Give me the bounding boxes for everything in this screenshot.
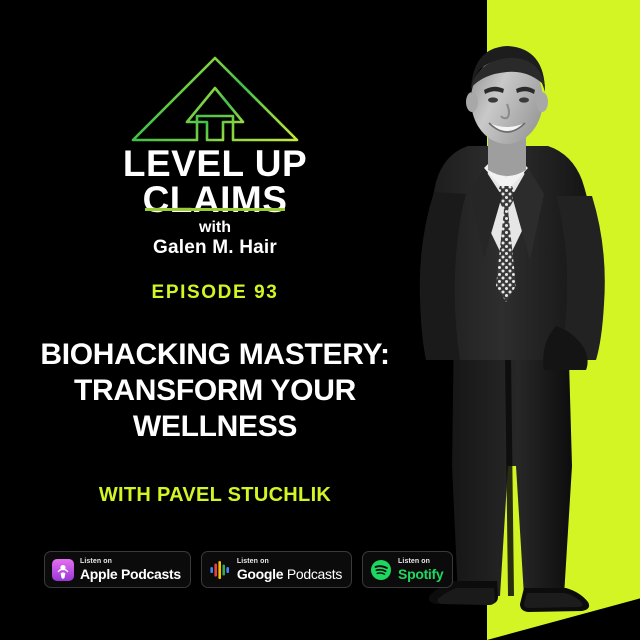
host-credit: with Galen M. Hair [0, 218, 430, 258]
google-podcasts-text: Google Podcasts [237, 567, 342, 581]
apple-podcasts-icon [52, 559, 74, 581]
podcast-cover-art: LEVEL UP CLAIMS with Galen M. Hair EPISO… [0, 0, 640, 640]
google-podcasts-label: Listen on Google Podcasts [237, 558, 342, 581]
spotify-icon [370, 559, 392, 581]
spotify-badge[interactable]: Listen on Spotify [362, 551, 453, 588]
with-label: with [199, 219, 231, 236]
episode-title-line3: WELLNESS [133, 410, 297, 443]
spotify-listen-on-text: Listen on [398, 558, 443, 565]
spotify-text: Spotify [398, 567, 443, 581]
episode-number: EPISODE 93 [0, 282, 430, 304]
google-podcasts-badge[interactable]: Listen on Google Podcasts [201, 551, 352, 588]
apple-listen-on-text: Listen on [80, 558, 181, 565]
apple-podcasts-text: Apple Podcasts [80, 567, 181, 581]
apple-podcasts-label: Listen on Apple Podcasts [80, 558, 181, 581]
episode-title-line1: BIOHACKING MASTERY: [40, 338, 389, 371]
episode-title: BIOHACKING MASTERY: TRANSFORM YOUR WELLN… [22, 337, 408, 445]
spotify-label: Listen on Spotify [398, 558, 443, 581]
host-name: Galen M. Hair [0, 238, 430, 258]
host-portrait-photo [396, 0, 640, 640]
google-listen-on-text: Listen on [237, 558, 342, 565]
podcasts-word: Podcasts [283, 566, 342, 582]
episode-title-line2: TRANSFORM YOUR [74, 374, 356, 407]
listen-badges: Listen on Apple Podcasts Listen on Googl… [44, 551, 453, 588]
google-word: Google [237, 566, 283, 582]
brand-name-line2: CLAIMS [0, 182, 430, 218]
guest-credit: WITH PAVEL STUCHLIK [0, 484, 430, 507]
cover-text-column: LEVEL UP CLAIMS with Galen M. Hair EPISO… [0, 0, 430, 640]
brand-name-line1: LEVEL UP [123, 143, 307, 184]
brand-divider [145, 208, 285, 211]
upward-arrow-icon [127, 52, 303, 148]
apple-podcasts-badge[interactable]: Listen on Apple Podcasts [44, 551, 191, 588]
google-podcasts-icon [209, 559, 231, 581]
